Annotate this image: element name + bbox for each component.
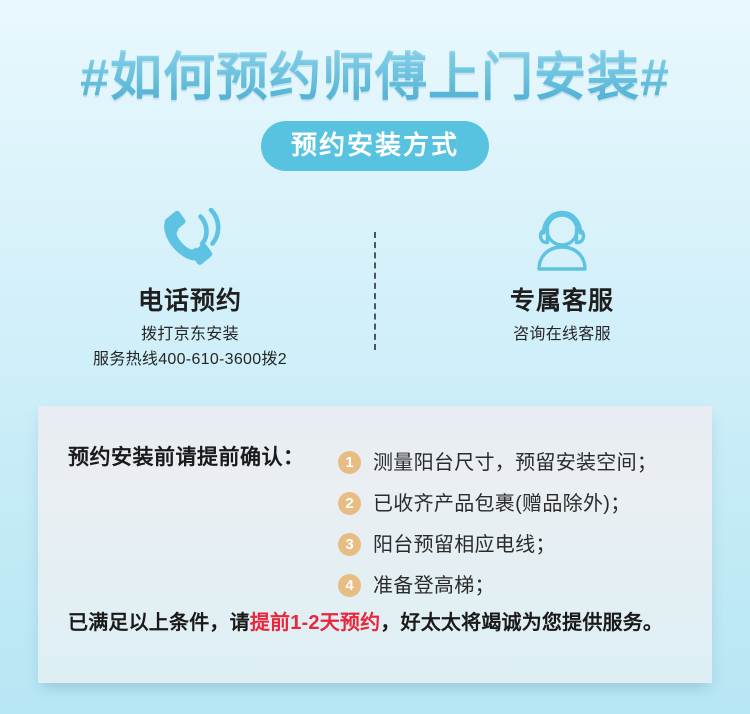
- badge-section: 预约安装方式: [0, 121, 750, 171]
- closing-highlight: 提前1-2天预约: [250, 612, 381, 634]
- list-item: 3 阳台预留相应电线；: [338, 524, 708, 565]
- closing-note: 已满足以上条件，请提前1-2天预约，好太太将竭诚为您提供服务。: [68, 610, 663, 636]
- list-number-badge: 4: [338, 574, 361, 597]
- checklist: 1 测量阳台尺寸，预留安装空间； 2 已收齐产品包裹(赠品除外)； 3 阳台预留…: [338, 442, 708, 606]
- list-item: 4 准备登高梯；: [338, 565, 708, 606]
- feature-title: 电话预约: [40, 286, 340, 316]
- feature-section: 电话预约 拨打京东安装 服务热线400-610-3600拨2 专属客服: [0, 200, 750, 375]
- page-title: #如何预约师傅上门安装#: [80, 48, 670, 108]
- promo-page: #如何预约师傅上门安装# 预约安装方式: [0, 0, 750, 714]
- list-item-text: 测量阳台尺寸，预留安装空间；: [373, 450, 657, 476]
- pre-booking-checklist-card: 预约安装前请提前确认： 1 测量阳台尺寸，预留安装空间； 2 已收齐产品包裹(赠…: [38, 406, 712, 683]
- list-number-badge: 2: [338, 492, 361, 515]
- vertical-divider: [374, 232, 376, 350]
- list-item-text: 准备登高梯；: [373, 573, 495, 599]
- title-section: #如何预约师傅上门安装#: [0, 48, 750, 108]
- checklist-heading: 预约安装前请提前确认：: [68, 445, 305, 471]
- feature-phone-booking[interactable]: 电话预约 拨打京东安装 服务热线400-610-3600拨2: [40, 200, 340, 372]
- list-number-badge: 1: [338, 451, 361, 474]
- headset-support-icon: [412, 200, 712, 278]
- feature-online-support[interactable]: 专属客服 咨询在线客服: [412, 200, 712, 347]
- feature-subline-1: 拨打京东安装: [40, 322, 340, 347]
- list-item: 1 测量阳台尺寸，预留安装空间；: [338, 442, 708, 483]
- closing-after: ，好太太将竭诚为您提供服务。: [380, 612, 663, 634]
- list-item-text: 阳台预留相应电线；: [373, 532, 556, 558]
- telephone-icon: [40, 200, 340, 278]
- subtitle-badge: 预约安装方式: [261, 121, 489, 171]
- closing-before: 已满足以上条件，请: [68, 612, 250, 634]
- list-number-badge: 3: [338, 533, 361, 556]
- feature-title: 专属客服: [412, 286, 712, 316]
- feature-subline-1: 咨询在线客服: [412, 322, 712, 347]
- list-item: 2 已收齐产品包裹(赠品除外)；: [338, 483, 708, 524]
- list-item-text: 已收齐产品包裹(赠品除外)；: [373, 491, 631, 517]
- feature-subline-2: 服务热线400-610-3600拨2: [40, 347, 340, 372]
